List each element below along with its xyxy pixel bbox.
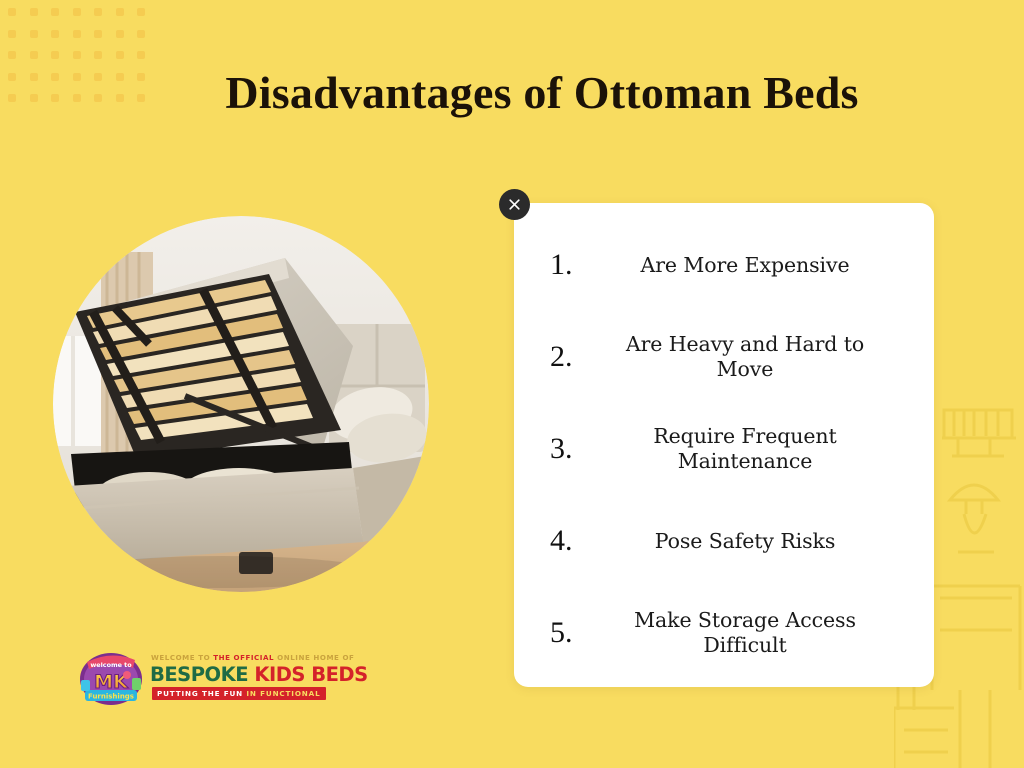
ottoman-bed-photo (53, 216, 429, 592)
brand-tagline-small: WELCOME TO THE OFFICIAL ONLINE HOME OF (151, 653, 354, 662)
disadvantages-card: 1. Are More Expensive 2. Are Heavy and H… (514, 203, 934, 687)
list-item-label: Are Heavy and Hard to Move (598, 332, 912, 382)
dot (8, 30, 16, 38)
dot (137, 8, 145, 16)
dot (51, 8, 59, 16)
list-item-number: 5. (536, 618, 598, 648)
brand-logo[interactable]: welcome to MK Furnishings WELCOME TO THE… (78, 648, 314, 706)
list-item-number: 3. (536, 434, 598, 464)
dot (73, 51, 81, 59)
dot (137, 51, 145, 59)
list-item: 5. Make Storage Access Difficult (536, 605, 912, 661)
list-item-label: Pose Safety Risks (598, 529, 912, 554)
dot (94, 51, 102, 59)
dot (30, 8, 38, 16)
mk-furnishings-badge: welcome to MK Furnishings (78, 648, 144, 706)
disadvantages-list: 1. Are More Expensive 2. Are Heavy and H… (514, 203, 934, 687)
dot (8, 8, 16, 16)
list-item: 3. Require Frequent Maintenance (536, 421, 912, 477)
brand-name: BESPOKE KIDS BEDS (150, 663, 368, 686)
svg-text:Furnishings: Furnishings (88, 693, 134, 701)
list-item: 2. Are Heavy and Hard to Move (536, 329, 912, 385)
svg-text:welcome to: welcome to (90, 661, 132, 669)
dot (51, 51, 59, 59)
list-item-number: 4. (536, 526, 598, 556)
dot (116, 30, 124, 38)
dot (30, 30, 38, 38)
list-item-label: Make Storage Access Difficult (598, 608, 912, 658)
dot (73, 8, 81, 16)
page-title: Disadvantages of Ottoman Beds (0, 66, 1024, 119)
dot (137, 30, 145, 38)
brand-strapline: PUTTING THE FUN IN FUNCTIONAL (152, 687, 326, 700)
dot (51, 30, 59, 38)
dot (116, 8, 124, 16)
dot (116, 51, 124, 59)
list-item: 1. Are More Expensive (536, 237, 912, 293)
dot (94, 30, 102, 38)
list-item-label: Are More Expensive (598, 253, 912, 278)
dot (73, 30, 81, 38)
brand-logo-text: WELCOME TO THE OFFICIAL ONLINE HOME OF B… (150, 651, 314, 703)
dot (8, 51, 16, 59)
dot (30, 51, 38, 59)
list-item-number: 2. (536, 342, 598, 372)
list-item-label: Require Frequent Maintenance (598, 424, 912, 474)
dot (94, 8, 102, 16)
list-item-number: 1. (536, 250, 598, 280)
list-item: 4. Pose Safety Risks (536, 513, 912, 569)
